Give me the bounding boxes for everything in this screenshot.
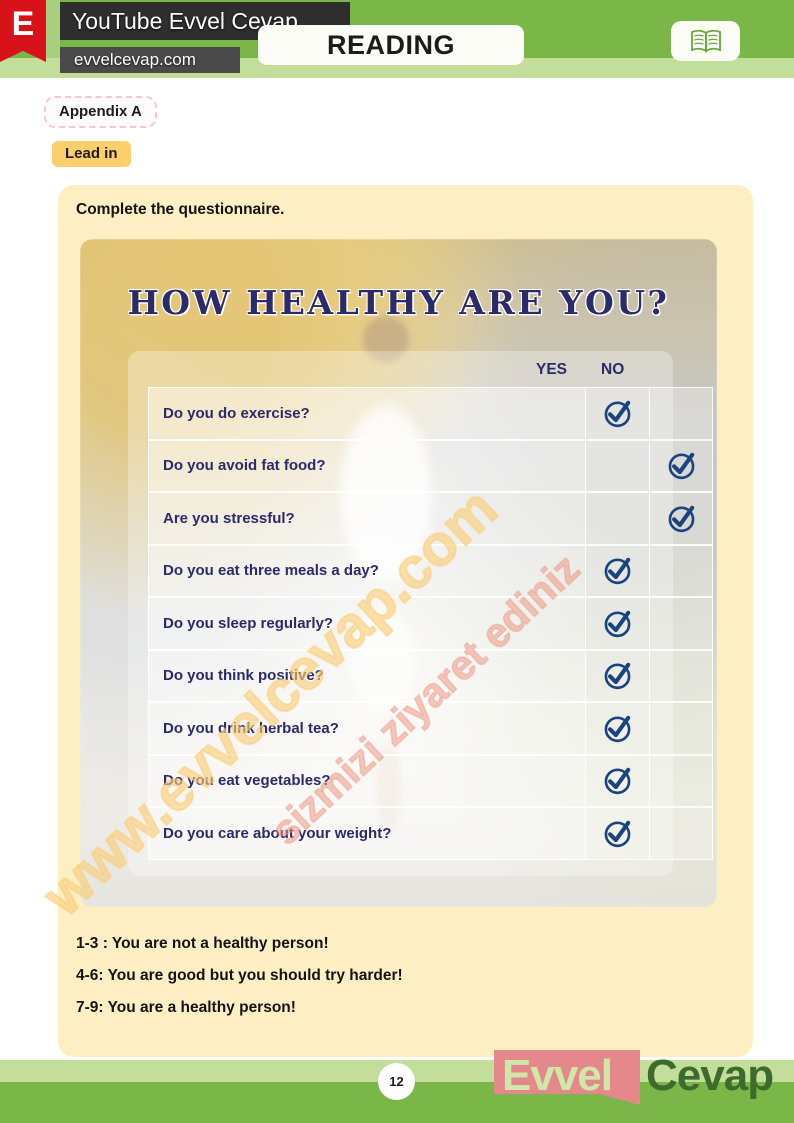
brand-logo-letter: E	[12, 7, 35, 41]
page-header: E YouTube Evvel Cevap evvelcevap.com REA…	[0, 0, 794, 78]
questionnaire-panel: HOW HEALTHY ARE YOU? YES NO Do you do ex…	[80, 239, 717, 907]
scoring-line: 4-6: You are good but you should try har…	[76, 967, 403, 985]
question-text: Do you do exercise?	[163, 405, 310, 422]
question-text: Do you care about your weight?	[163, 825, 391, 842]
answer-cell-no[interactable]	[649, 807, 713, 860]
answer-cell-yes[interactable]	[585, 702, 649, 755]
answer-cell-yes[interactable]	[585, 440, 649, 493]
question-text: Are you stressful?	[163, 510, 295, 527]
brand-word-evvel: Evvel	[502, 1051, 612, 1101]
breadcrumb-appendix: Appendix A	[44, 96, 157, 128]
question-cell: Do you think positive?	[148, 650, 585, 703]
check-mark-icon	[601, 659, 634, 692]
question-cell: Do you sleep regularly?	[148, 597, 585, 650]
answer-cell-yes[interactable]	[585, 597, 649, 650]
question-cell: Do you eat vegetables?	[148, 755, 585, 808]
questionnaire-row: Do you drink herbal tea?	[148, 702, 713, 755]
open-book-icon	[689, 29, 723, 53]
check-mark-icon	[665, 502, 698, 535]
answer-cell-no[interactable]	[649, 597, 713, 650]
question-cell: Do you care about your weight?	[148, 807, 585, 860]
questionnaire-row: Do you sleep regularly?	[148, 597, 713, 650]
questionnaire-row: Do you do exercise?	[148, 387, 713, 440]
lead-in-label: Lead in	[65, 145, 118, 162]
questionnaire-row: Are you stressful?	[148, 492, 713, 545]
column-header-no: NO	[601, 361, 624, 379]
question-text: Do you think positive?	[163, 667, 324, 684]
page-number-badge: 12	[378, 1063, 415, 1100]
answer-cell-no[interactable]	[649, 702, 713, 755]
check-mark-icon	[601, 817, 634, 850]
website-label: evvelcevap.com	[74, 50, 196, 70]
answer-cell-no[interactable]	[649, 492, 713, 545]
question-text: Do you eat vegetables?	[163, 772, 331, 789]
answer-cell-yes[interactable]	[585, 755, 649, 808]
question-text: Do you eat three meals a day?	[163, 562, 379, 579]
tab-reading[interactable]: READING	[258, 25, 524, 65]
answer-cell-no[interactable]	[649, 755, 713, 808]
check-mark-icon	[601, 764, 634, 797]
answer-cell-no[interactable]	[649, 387, 713, 440]
question-cell: Do you eat three meals a day?	[148, 545, 585, 598]
exercise-instruction: Complete the questionnaire.	[76, 201, 284, 219]
exercise-card: Complete the questionnaire. HOW HEALTHY …	[58, 185, 753, 1057]
scoring-legend: 1-3 : You are not a healthy person!4-6: …	[76, 935, 403, 1031]
check-mark-icon	[601, 397, 634, 430]
questionnaire-row: Do you eat vegetables?	[148, 755, 713, 808]
questionnaire-table: Do you do exercise? Do you avoid fat foo…	[148, 387, 713, 860]
open-book-button[interactable]	[671, 21, 740, 61]
appendix-label: Appendix A	[59, 103, 142, 120]
question-text: Do you avoid fat food?	[163, 457, 326, 474]
question-cell: Do you avoid fat food?	[148, 440, 585, 493]
answer-cell-yes[interactable]	[585, 545, 649, 598]
section-lead-in: Lead in	[52, 141, 131, 167]
questionnaire-row: Do you care about your weight?	[148, 807, 713, 860]
check-mark-icon	[601, 712, 634, 745]
tab-reading-label: READING	[327, 30, 455, 61]
question-cell: Do you drink herbal tea?	[148, 702, 585, 755]
column-header-yes: YES	[536, 361, 567, 379]
question-cell: Do you do exercise?	[148, 387, 585, 440]
question-text: Do you drink herbal tea?	[163, 720, 339, 737]
answer-cell-no[interactable]	[649, 440, 713, 493]
question-text: Do you sleep regularly?	[163, 615, 333, 632]
answer-cell-yes[interactable]	[585, 807, 649, 860]
question-cell: Are you stressful?	[148, 492, 585, 545]
answer-cell-yes[interactable]	[585, 387, 649, 440]
check-mark-icon	[601, 607, 634, 640]
questionnaire-row: Do you avoid fat food?	[148, 440, 713, 493]
check-mark-icon	[665, 449, 698, 482]
questionnaire-title: HOW HEALTHY ARE YOU?	[80, 283, 717, 322]
brand-word-cevap: Cevap	[646, 1051, 773, 1101]
website-banner: evvelcevap.com	[60, 47, 240, 73]
answer-cell-yes[interactable]	[585, 650, 649, 703]
answer-cell-no[interactable]	[649, 650, 713, 703]
check-mark-icon	[601, 554, 634, 587]
page-root: E YouTube Evvel Cevap evvelcevap.com REA…	[0, 0, 794, 1123]
scoring-line: 1-3 : You are not a healthy person!	[76, 935, 403, 953]
footer-brand: Evvel Cevap	[494, 1050, 794, 1112]
answer-cell-no[interactable]	[649, 545, 713, 598]
answer-cell-yes[interactable]	[585, 492, 649, 545]
questionnaire-row: Do you eat three meals a day?	[148, 545, 713, 598]
questionnaire-row: Do you think positive?	[148, 650, 713, 703]
scoring-line: 7-9: You are a healthy person!	[76, 999, 403, 1017]
page-number-label: 12	[389, 1074, 403, 1089]
